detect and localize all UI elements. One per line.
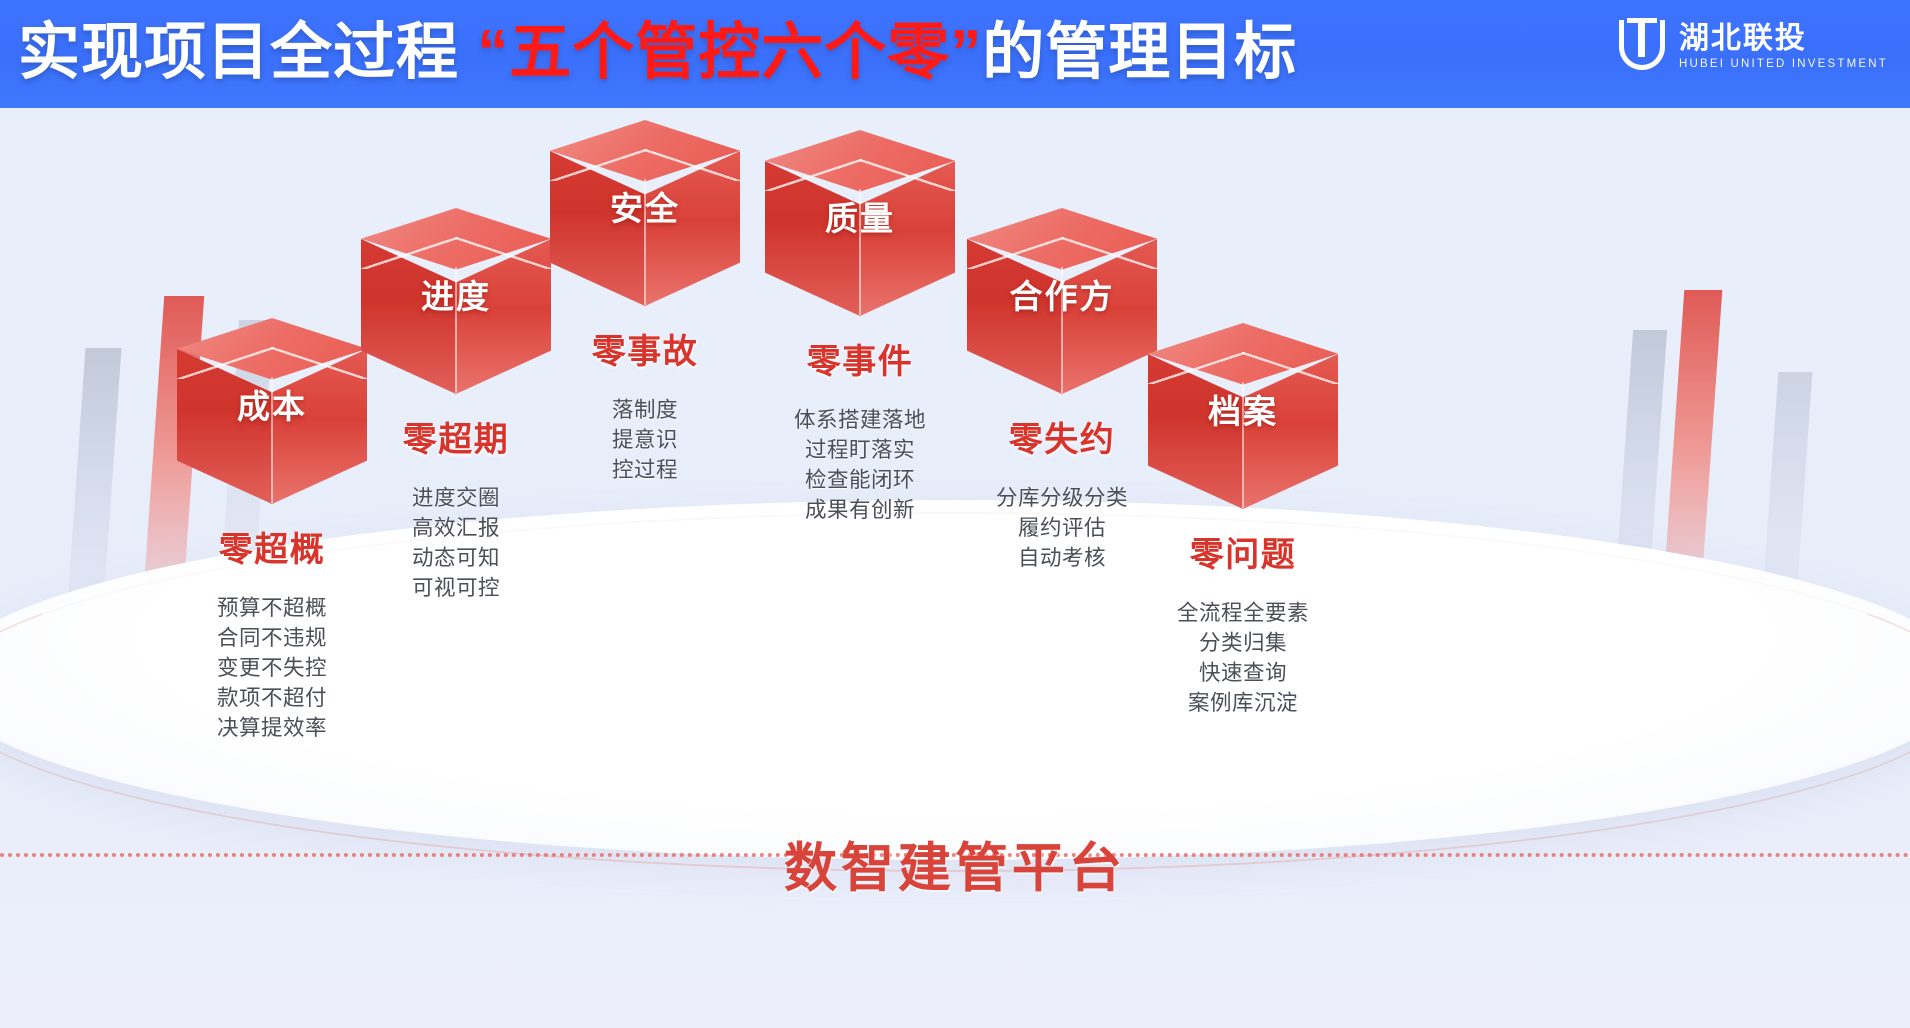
list-item: 合同不违规 — [122, 623, 422, 653]
pillar-item-list: 预算不超概 合同不违规 变更不失控 款项不超付 决算提效率 — [122, 593, 422, 743]
pillar-item-list: 进度交圈 高效汇报 动态可知 可视可控 — [306, 483, 606, 603]
pillar-archive[interactable]: 档案 零问题 全流程全要素 分类归集 快速查询 案例库沉淀 — [1093, 323, 1393, 718]
list-item: 款项不超付 — [122, 683, 422, 713]
slide-body: 成本 零超概 预算不超概 合同不违规 变更不失控 款项不超付 决算提效率 — [0, 108, 1910, 1028]
cube-label: 合作方 — [967, 270, 1157, 318]
list-item: 变更不失控 — [122, 653, 422, 683]
u-monogram-icon — [1617, 18, 1667, 76]
list-item: 动态可知 — [306, 543, 606, 573]
slide-header-bar: 实现项目全过程 “五个管控六个零”的管理目标 湖北联投 HUBEI UNITED… — [0, 0, 1910, 108]
list-item: 快速查询 — [1093, 658, 1393, 688]
page-title-highlight: “五个管控六个零” — [477, 18, 982, 87]
logo-text: 湖北联投 HUBEI UNITED INVESTMENT — [1679, 22, 1888, 72]
pillar-item-list: 全流程全要素 分类归集 快速查询 案例库沉淀 — [1093, 598, 1393, 718]
cube-edge-left — [1148, 352, 1245, 384]
cube-edge-left — [361, 237, 458, 269]
list-item: 高效汇报 — [306, 513, 606, 543]
list-item: 分类归集 — [1093, 628, 1393, 658]
page-title-prefix: 实现项目全过程 — [18, 18, 477, 87]
cube-edge-left — [550, 149, 647, 181]
page-title-suffix: 的管理目标 — [982, 18, 1297, 87]
zero-goal-title: 零问题 — [1093, 532, 1393, 578]
list-item: 决算提效率 — [122, 713, 422, 743]
company-logo: 湖北联投 HUBEI UNITED INVESTMENT — [1617, 18, 1888, 76]
page-title: 实现项目全过程 “五个管控六个零”的管理目标 — [18, 4, 1297, 102]
cube-edge-right — [1242, 352, 1339, 384]
list-item: 进度交圈 — [306, 483, 606, 513]
list-item: 可视可控 — [306, 573, 606, 603]
cube-edge-left — [967, 237, 1064, 269]
logo-name-cn: 湖北联投 — [1679, 22, 1888, 56]
platform-caption: 数智建管平台 — [0, 826, 1910, 902]
cube-edge-right — [859, 159, 956, 191]
list-item: 案例库沉淀 — [1093, 688, 1393, 718]
cube-edge-right — [1061, 237, 1158, 269]
logo-name-en: HUBEI UNITED INVESTMENT — [1679, 56, 1888, 72]
list-item: 全流程全要素 — [1093, 598, 1393, 628]
cube-edge-left — [177, 347, 274, 379]
cube-label: 档案 — [1148, 385, 1338, 433]
cube-edge-left — [765, 159, 862, 191]
cube-archive: 档案 — [1148, 323, 1338, 538]
slide-canvas: 实现项目全过程 “五个管控六个零”的管理目标 湖北联投 HUBEI UNITED… — [0, 0, 1910, 1028]
